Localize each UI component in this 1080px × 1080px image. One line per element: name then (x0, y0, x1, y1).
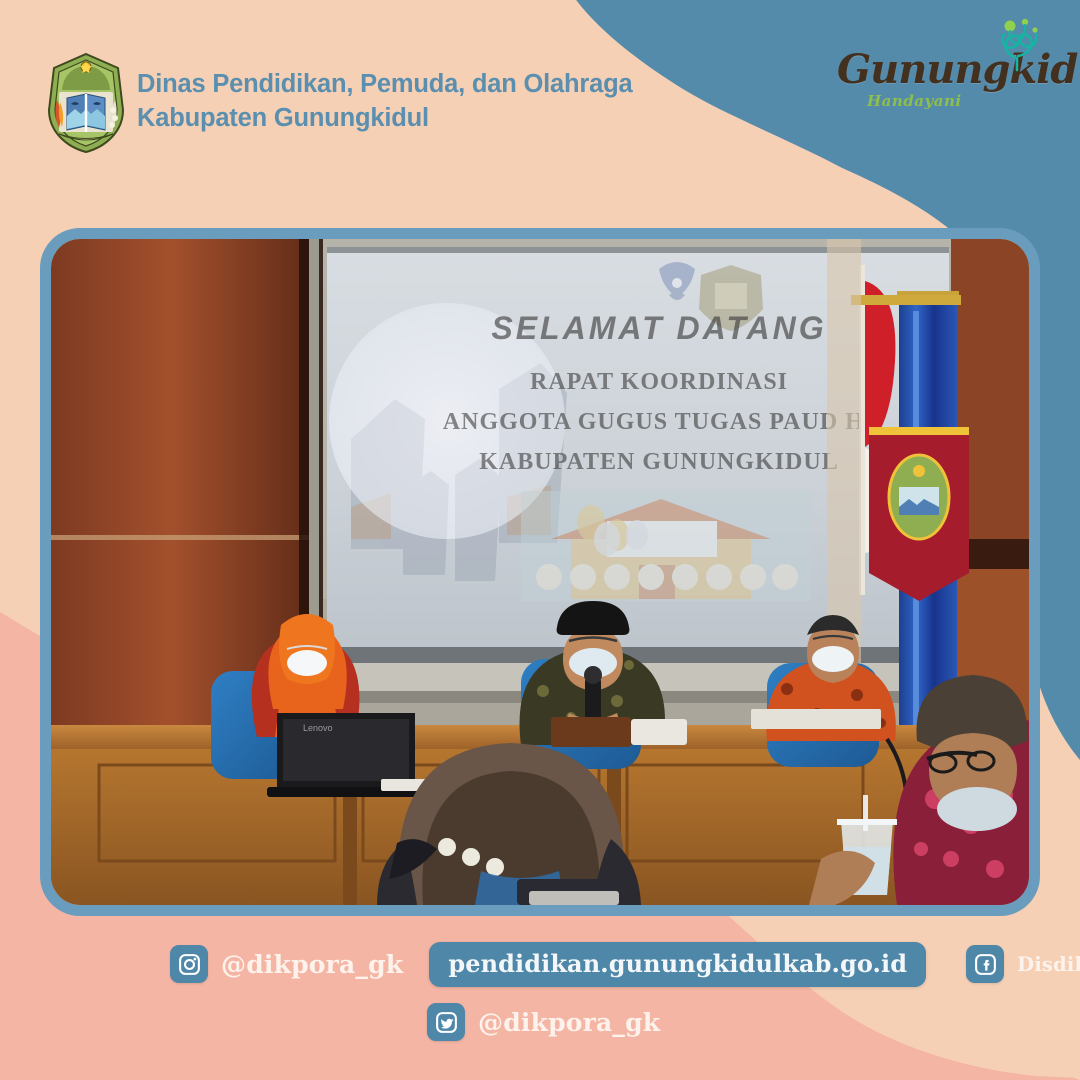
gunungkidul-regency-crest (45, 52, 127, 154)
website-url-button[interactable]: pendidikan.gunungkidulkab.go.id (429, 942, 926, 987)
slide-text: SELAMAT DATANG (491, 310, 826, 346)
instagram-icon[interactable] (170, 945, 208, 983)
page-title: Dinas Pendidikan, Pemuda, dan Olahraga K… (137, 68, 632, 135)
footer: @dikpora_gk pendidikan.gunungkidulkab.go… (0, 940, 1080, 1080)
header: Dinas Pendidikan, Pemuda, dan Olahraga K… (0, 0, 1080, 200)
svg-text:ANGGOTA GUGUS TUGAS PAUD HI: ANGGOTA GUGUS TUGAS PAUD HI (443, 409, 875, 435)
footer-row-secondary: @dikpora_gk (427, 998, 660, 1046)
meeting-photo: SELAMAT DATANG RAPAT KOORDINASI ANGGOTA … (51, 239, 1029, 905)
dept-line-2: Kabupaten Gunungkidul (137, 102, 632, 136)
school-building-with-children-illustration (521, 491, 811, 601)
instagram-handle[interactable]: @dikpora_gk (221, 950, 403, 979)
facebook-page-name[interactable]: Disdikpora Gunungkidul (1017, 953, 1080, 976)
brand-tagline: Handayani (867, 92, 962, 110)
gunungkidul-flourish-ornament (986, 14, 1048, 76)
svg-text:KABUPATEN GUNUNGKIDUL: KABUPATEN GUNUNGKIDUL (479, 449, 838, 475)
footer-row-primary: @dikpora_gk pendidikan.gunungkidulkab.go… (170, 940, 1080, 988)
svg-text:Lenovo: Lenovo (303, 723, 333, 733)
twitter-icon[interactable] (427, 1003, 465, 1041)
slide-welcome: SELAMAT DATANG (491, 310, 826, 346)
twitter-handle[interactable]: @dikpora_gk (478, 1008, 660, 1037)
svg-text:RAPAT KOORDINASI: RAPAT KOORDINASI (530, 369, 788, 395)
dept-line-1: Dinas Pendidikan, Pemuda, dan Olahraga (137, 68, 632, 102)
facebook-icon[interactable] (966, 945, 1004, 983)
post-canvas: Dinas Pendidikan, Pemuda, dan Olahraga K… (0, 0, 1080, 1080)
gunungkidul-brand-logo: Gunungkidul Handayani (837, 36, 1042, 120)
photo-frame: SELAMAT DATANG RAPAT KOORDINASI ANGGOTA … (40, 228, 1040, 916)
